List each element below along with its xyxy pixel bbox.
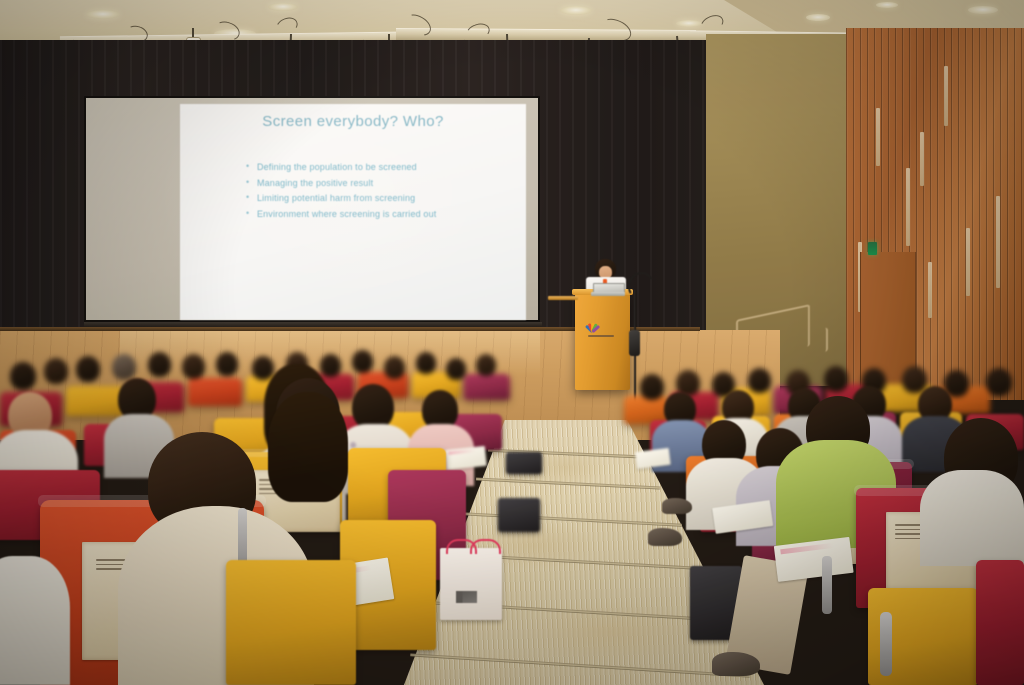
writing-tablet[interactable] (774, 537, 854, 582)
exit-sign-icon (868, 242, 877, 255)
slide-bullet-list: Defining the population to be screened M… (206, 160, 518, 222)
attendee-shoe (648, 528, 682, 546)
attendee-shoe (712, 652, 760, 676)
downlight (876, 2, 898, 8)
downlight (676, 20, 702, 27)
wall-accent-strip (996, 196, 1000, 288)
laptop-on-podium (593, 283, 623, 296)
attendee-shoulders (920, 470, 1024, 566)
downlight (806, 14, 830, 21)
podium (575, 294, 630, 390)
downlight (268, 3, 298, 11)
podium-side-shelf (548, 296, 578, 300)
tote-handle (470, 539, 501, 554)
attendee-shoe (662, 498, 692, 514)
downlight (968, 6, 998, 14)
attendee-hair (268, 392, 348, 502)
hospital-pinwheel-logo-icon (586, 319, 599, 332)
dark-shoulder-bag (498, 498, 540, 532)
writing-tablet (445, 446, 487, 470)
slide-bullet: Limiting potential harm from screening (246, 191, 518, 207)
wall-accent-strip (876, 108, 880, 166)
auditorium-photo: Screen everybody? Who? Defining the popu… (0, 0, 1024, 685)
dark-shoulder-bag (506, 452, 542, 474)
wall-accent-strip (944, 66, 948, 126)
seat (976, 560, 1024, 685)
wall-accent-strip (928, 262, 932, 318)
attendee-shoulders (0, 556, 70, 685)
wall-accent-strip (906, 168, 910, 246)
floor-microphone-head (629, 330, 640, 356)
tote-logo (456, 591, 477, 603)
seat (226, 560, 356, 685)
podium-logo-tagline (588, 335, 614, 337)
downlight (86, 10, 120, 19)
laptop-base (591, 292, 625, 296)
wall-accent-strip (920, 132, 924, 186)
slide-bullet: Environment where screening is carried o… (246, 207, 518, 223)
white-tote-bag (440, 548, 502, 620)
presentation-slide: Screen everybody? Who? Defining the popu… (180, 104, 526, 320)
podium-logo-wordmark (601, 320, 627, 322)
slide-title: Screen everybody? Who? (180, 113, 526, 130)
wall-accent-strip (966, 228, 970, 296)
podium-logo (586, 319, 628, 339)
slide-bullet: Managing the positive result (246, 176, 518, 192)
downlight (560, 6, 592, 15)
slide-bullet: Defining the population to be screened (246, 160, 518, 176)
seat-arm-hardware (822, 556, 832, 614)
seat-arm-hardware (880, 612, 892, 676)
